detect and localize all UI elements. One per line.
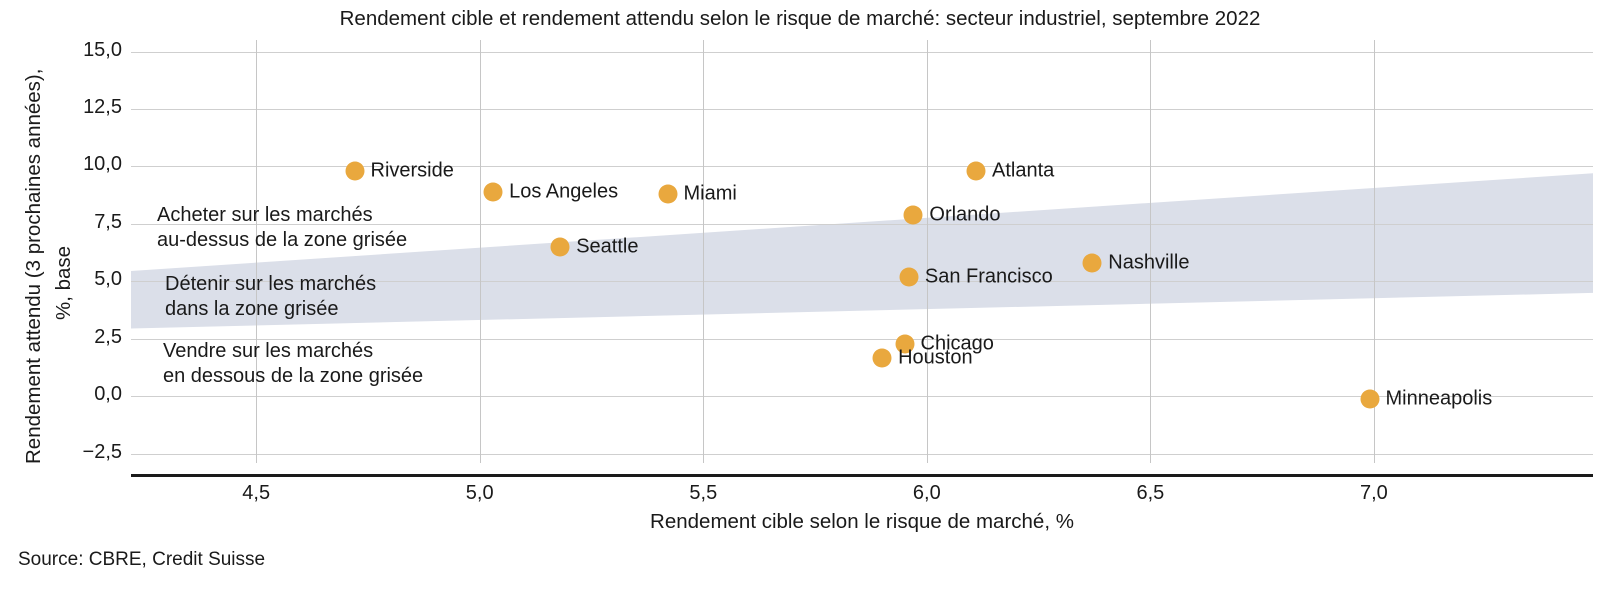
- data-point-marker[interactable]: [1360, 389, 1379, 408]
- chart-title: Rendement cible et rendement attendu sel…: [0, 7, 1600, 31]
- data-point-label: Houston: [898, 347, 973, 370]
- x-tick-label: 7,0: [1360, 482, 1388, 505]
- data-point-marker[interactable]: [904, 205, 923, 224]
- gridline-vertical: [480, 40, 481, 463]
- data-point-marker[interactable]: [873, 349, 892, 368]
- data-point-label: Atlanta: [992, 160, 1054, 183]
- data-point-marker[interactable]: [899, 267, 918, 286]
- data-point-marker[interactable]: [658, 185, 677, 204]
- data-point-label: Riverside: [371, 160, 454, 183]
- x-tick-label: 4,5: [242, 482, 270, 505]
- x-axis-line: [131, 474, 1593, 477]
- gridline-vertical: [703, 40, 704, 463]
- y-tick-label: 10,0: [83, 153, 122, 176]
- plot-area: RiversideLos AngelesMiamiSeattleAtlantaO…: [131, 40, 1593, 463]
- y-tick-label: 0,0: [94, 383, 122, 406]
- source-note: Source: CBRE, Credit Suisse: [18, 549, 265, 571]
- x-tick-label: 5,5: [689, 482, 717, 505]
- y-tick-label: 5,0: [94, 268, 122, 291]
- data-point-marker[interactable]: [1083, 254, 1102, 273]
- scatter-chart: Rendement cible et rendement attendu sel…: [0, 0, 1600, 590]
- y-axis-title-line2: %, base: [52, 246, 76, 320]
- data-point-label: Orlando: [929, 203, 1000, 226]
- x-tick-label: 6,0: [913, 482, 941, 505]
- data-point-marker[interactable]: [551, 237, 570, 256]
- y-tick-label: −2,5: [83, 441, 122, 464]
- data-point-label: Seattle: [576, 235, 638, 258]
- data-point-label: Nashville: [1108, 252, 1189, 275]
- annotation-buy: Acheter sur les marchés au-dessus de la …: [157, 203, 407, 253]
- data-point-label: San Francisco: [925, 265, 1053, 288]
- annotation-hold: Détenir sur les marchés dans la zone gri…: [165, 272, 376, 322]
- data-point-label: Minneapolis: [1386, 387, 1493, 410]
- data-point-marker[interactable]: [967, 162, 986, 181]
- x-axis-title: Rendement cible selon le risque de march…: [131, 510, 1593, 534]
- data-point-label: Los Angeles: [509, 180, 618, 203]
- y-tick-label: 12,5: [83, 96, 122, 119]
- data-point-marker[interactable]: [484, 182, 503, 201]
- data-point-marker[interactable]: [345, 162, 364, 181]
- x-tick-label: 5,0: [466, 482, 494, 505]
- y-tick-label: 7,5: [94, 211, 122, 234]
- y-axis-title-line1: Rendement attendu (3 prochaines années),: [22, 69, 46, 464]
- annotation-sell: Vendre sur les marchés en dessous de la …: [163, 339, 423, 389]
- gridline-vertical: [927, 40, 928, 463]
- data-point-label: Miami: [684, 183, 737, 206]
- y-tick-label: 15,0: [83, 39, 122, 62]
- x-tick-label: 6,5: [1136, 482, 1164, 505]
- y-tick-label: 2,5: [94, 326, 122, 349]
